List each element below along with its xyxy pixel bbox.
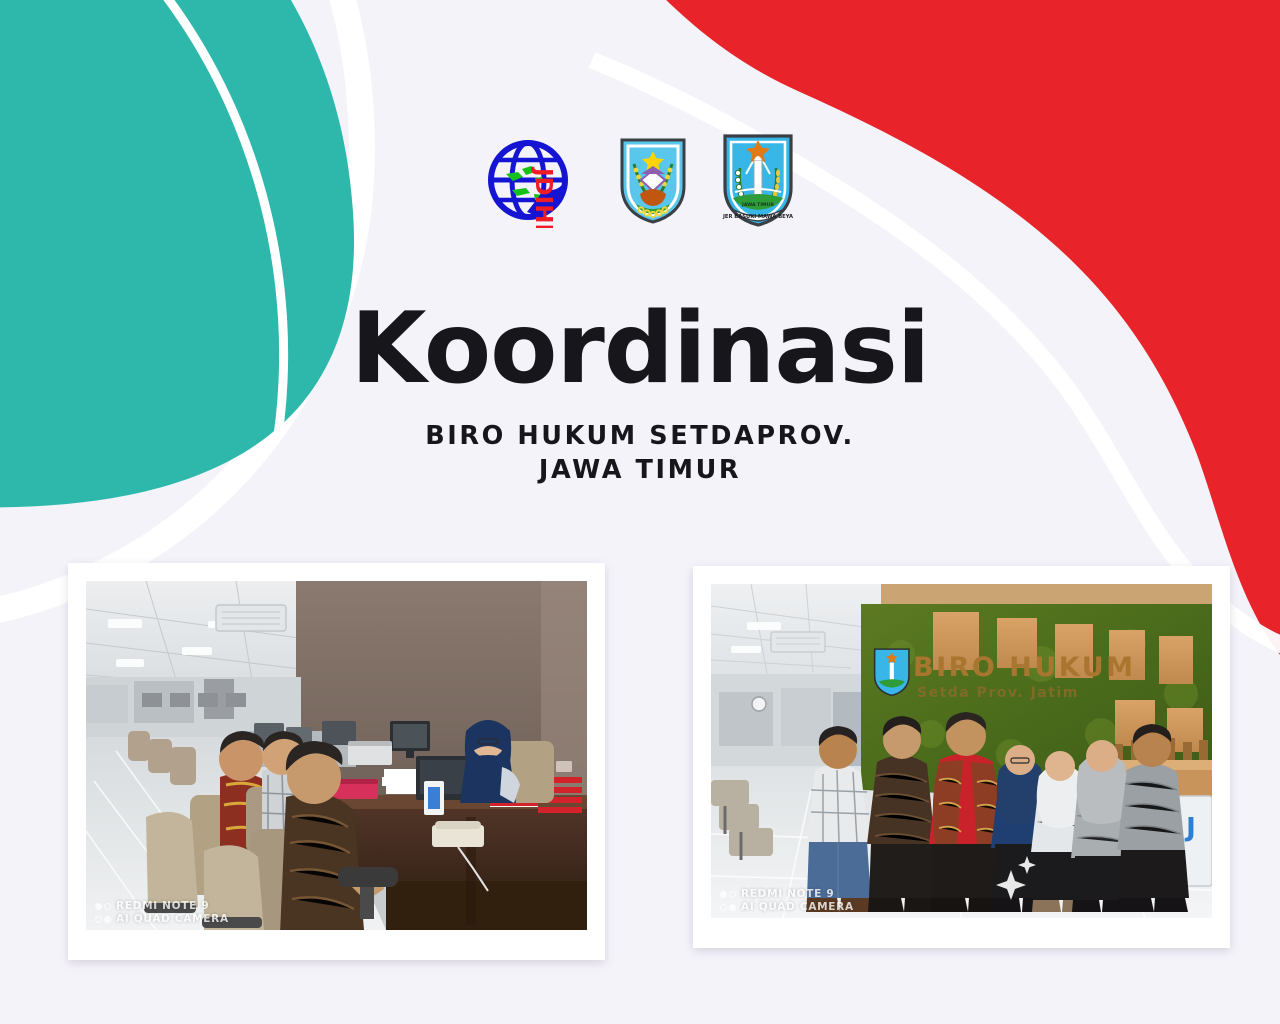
watermark-line-2-right: AI QUAD CAMERA	[720, 901, 854, 913]
watermark-text-2-right: AI QUAD CAMERA	[741, 901, 854, 913]
svg-text:JDIHN: JDIHN	[530, 166, 556, 228]
banner-letter: J	[1184, 813, 1196, 843]
watermark-line-1: REDMI NOTE 9	[95, 900, 229, 912]
photo-card-meeting-desk: REDMI NOTE 9 AI QUAD CAMERA	[68, 563, 605, 960]
watermark-dots-icon-2	[95, 916, 111, 923]
page-subtitle: BIRO HUKUM SETDAPROV. JAWA TIMUR	[320, 420, 960, 487]
watermark-text-1: REDMI NOTE 9	[116, 900, 209, 912]
watermark-text-2: AI QUAD CAMERA	[116, 913, 229, 925]
photo-group-image: BIRO HUKUM Setda Prov. Jatim	[711, 584, 1212, 918]
watermark-dots-icon	[95, 903, 111, 910]
photo-group-biro-hukum: BIRO HUKUM Setda Prov. Jatim	[711, 584, 1212, 918]
svg-text:JAWA TIMUR: JAWA TIMUR	[741, 202, 774, 208]
camera-watermark-2: REDMI NOTE 9 AI QUAD CAMERA	[720, 888, 854, 913]
subtitle-line-1: BIRO HUKUM SETDAPROV.	[320, 420, 960, 454]
photo-card-group: BIRO HUKUM Setda Prov. Jatim	[693, 566, 1230, 948]
watermark-text-1-right: REDMI NOTE 9	[741, 888, 834, 900]
title-block: Koordinasi BIRO HUKUM SETDAPROV. JAWA TI…	[0, 300, 1280, 487]
watermark-line-1-right: REDMI NOTE 9	[720, 888, 854, 900]
east-java-provincial-emblem: JER BASUKI MAWA BEYA JAWA TIMUR	[718, 130, 798, 230]
poster-canvas: JDIHN	[0, 0, 1280, 1024]
wall-emblem	[875, 649, 909, 695]
watermark-line-2: AI QUAD CAMERA	[95, 913, 229, 925]
camera-watermark: REDMI NOTE 9 AI QUAD CAMERA	[95, 900, 229, 925]
regency-emblem	[616, 134, 690, 226]
page-title: Koordinasi	[0, 300, 1280, 398]
watermark-dots-icon-4	[720, 904, 736, 911]
jdihn-logo: JDIHN	[482, 132, 588, 228]
wall-sign-primary: BIRO HUKUM	[913, 652, 1136, 683]
subtitle-line-2: JAWA TIMUR	[320, 454, 960, 488]
photo-meeting-desk: REDMI NOTE 9 AI QUAD CAMERA	[86, 581, 587, 930]
svg-text:JER BASUKI MAWA BEYA: JER BASUKI MAWA BEYA	[722, 214, 793, 220]
wall-sign-secondary: Setda Prov. Jatim	[917, 685, 1079, 701]
emblem-row: JDIHN	[0, 130, 1280, 230]
photo-row: REDMI NOTE 9 AI QUAD CAMERA	[0, 563, 1280, 963]
photo-meeting-desk-image	[86, 581, 587, 930]
watermark-dots-icon-3	[720, 891, 736, 898]
